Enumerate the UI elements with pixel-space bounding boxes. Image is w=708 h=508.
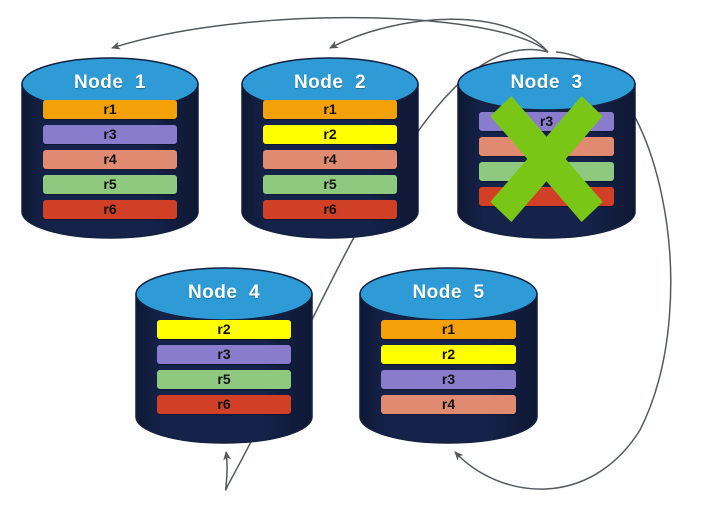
record-bar: r3 — [381, 370, 516, 389]
record-bar: r5 — [157, 370, 291, 389]
node-4-label: Node 4 — [136, 282, 312, 304]
node-2[interactable]: Node 2r1r2r4r5r6 — [242, 58, 418, 238]
record-bar: r5 — [43, 175, 177, 194]
node-5-label: Node 5 — [360, 282, 537, 304]
record-bar — [479, 162, 614, 181]
record-bar: r1 — [43, 100, 177, 119]
record-bar: r1 — [381, 320, 516, 339]
node-5[interactable]: Node 5r1r2r3r4 — [360, 268, 537, 443]
node-2-label: Node 2 — [242, 72, 418, 94]
record-bar: r2 — [157, 320, 291, 339]
record-bar: r5 — [263, 175, 397, 194]
arrow-node3-to-node1 — [112, 18, 548, 52]
record-bar — [479, 187, 614, 206]
node-4-records: r2r3r5r6 — [136, 320, 312, 414]
node-1-records: r1r3r4r5r6 — [22, 100, 198, 219]
record-bar: r6 — [157, 395, 291, 414]
node-3-label: Node 3 — [458, 72, 635, 94]
record-bar: r1 — [263, 100, 397, 119]
record-bar: r4 — [43, 150, 177, 169]
record-bar — [479, 137, 614, 156]
node-3-records: r3 — [458, 112, 635, 206]
node-1-label: Node 1 — [22, 72, 198, 94]
record-bar: r3 — [43, 125, 177, 144]
record-bar: r6 — [263, 200, 397, 219]
record-bar: r3 — [479, 112, 614, 131]
record-bar: r4 — [263, 150, 397, 169]
record-bar: r2 — [263, 125, 397, 144]
node-3[interactable]: Node 3r3 — [458, 58, 635, 238]
record-bar: r2 — [381, 345, 516, 364]
record-bar: r4 — [381, 395, 516, 414]
diagram-canvas: Node 1r1r3r4r5r6Node 2r1r2r4r5r6Node 3r3… — [0, 0, 708, 508]
arrow-node3-to-node2 — [330, 19, 548, 52]
node-4[interactable]: Node 4r2r3r5r6 — [136, 268, 312, 443]
node-2-records: r1r2r4r5r6 — [242, 100, 418, 219]
node-1[interactable]: Node 1r1r3r4r5r6 — [22, 58, 198, 238]
record-bar: r3 — [157, 345, 291, 364]
node-5-records: r1r2r3r4 — [360, 320, 537, 414]
record-bar: r6 — [43, 200, 177, 219]
